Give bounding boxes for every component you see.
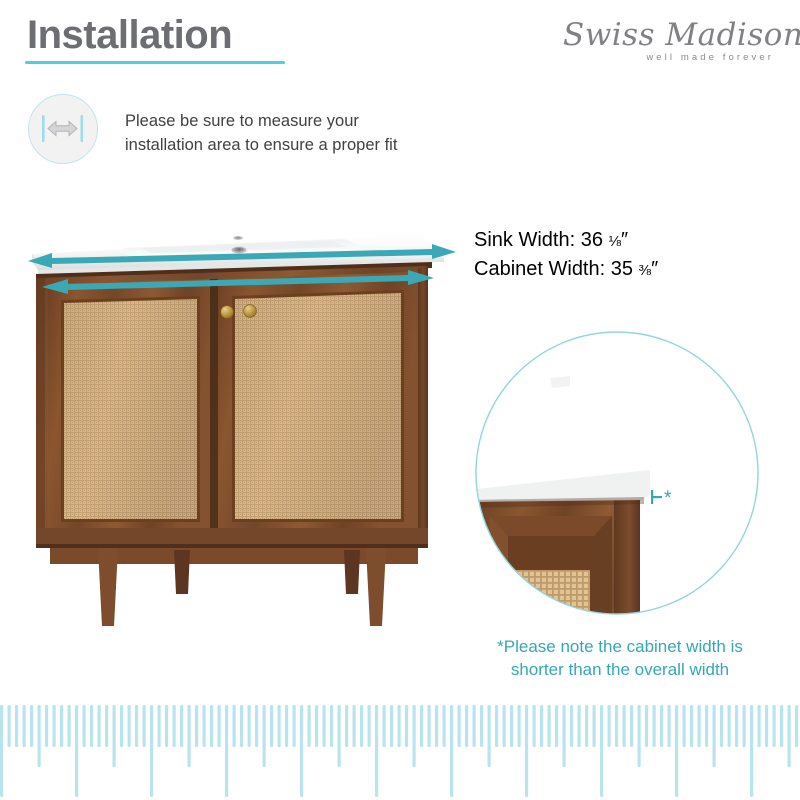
- ruler-tick: [180, 705, 183, 747]
- vanity-product-image: [14, 228, 446, 628]
- ruler-tick: [795, 705, 798, 747]
- ruler-tick: [38, 705, 41, 767]
- brand-logo: Swiss Madison® well made forever: [563, 20, 778, 63]
- ruler-tick: [98, 705, 101, 747]
- ruler-tick: [413, 705, 416, 767]
- ruler-tick: [638, 705, 641, 767]
- ruler-tick: [120, 705, 123, 747]
- cabinet-edge-detail-inset: *: [474, 330, 760, 616]
- ruler-tick: [593, 705, 596, 747]
- cabinet-width-note: *Please note the cabinet width is shorte…: [470, 636, 770, 682]
- leg-rear-left: [174, 550, 190, 594]
- ruler-tick: [218, 705, 221, 747]
- ruler-tick: [743, 705, 746, 747]
- cabinet-body: [36, 262, 432, 548]
- leg-front-right: [366, 548, 386, 626]
- ruler-tick: [383, 705, 386, 747]
- ruler-tick: [15, 705, 18, 747]
- ruler-tick: [165, 705, 168, 747]
- ruler-tick: [263, 705, 266, 767]
- ruler-tick: [720, 705, 723, 747]
- ruler-tick: [548, 705, 551, 747]
- ruler-ticks: [0, 700, 800, 800]
- ruler-tick: [143, 705, 146, 747]
- ruler-tick: [705, 705, 708, 747]
- ruler-tick: [323, 705, 326, 747]
- ruler-tick: [188, 705, 191, 767]
- svg-text:*: *: [664, 488, 672, 509]
- brand-name-text: Swiss Madison: [563, 17, 800, 53]
- leg-front-left: [98, 548, 118, 626]
- ruler-tick: [0, 705, 3, 797]
- ruler-tick: [450, 705, 453, 797]
- cabinet-width-label: Cabinet Width:: [474, 258, 605, 280]
- cabinet-width-value: 35: [611, 258, 633, 280]
- ruler-tick: [195, 705, 198, 747]
- ruler-tick: [668, 705, 671, 747]
- ruler-tick: [428, 705, 431, 747]
- ruler-tick: [788, 705, 791, 767]
- ruler-tick: [203, 705, 206, 747]
- ruler-tick: [600, 705, 603, 797]
- ruler-tick: [698, 705, 701, 747]
- ruler-tick: [683, 705, 686, 747]
- cabinet-width-note-line-1: *Please note the cabinet width is: [470, 636, 770, 659]
- measure-instruction-line-1: Please be sure to measure your: [125, 110, 455, 134]
- ruler-tick: [728, 705, 731, 747]
- ruler-tick: [675, 705, 678, 797]
- ruler-tick: [465, 705, 468, 747]
- ruler-tick: [503, 705, 506, 747]
- ruler-tick: [68, 705, 71, 747]
- ruler-tick: [615, 705, 618, 747]
- ruler-tick: [60, 705, 63, 747]
- ruler-tick: [360, 705, 363, 747]
- ruler-tick: [495, 705, 498, 747]
- sink-width-unit: ″: [621, 229, 628, 251]
- brand-tagline: well made forever: [563, 52, 778, 63]
- ruler-tick: [135, 705, 138, 747]
- ruler-tick: [533, 705, 536, 747]
- sink-width-value: 36: [581, 229, 603, 251]
- ruler-tick: [405, 705, 408, 747]
- ruler-tick: [555, 705, 558, 747]
- ruler-tick: [390, 705, 393, 747]
- cabinet-width-note-line-2: shorter than the overall width: [470, 659, 770, 682]
- ruler-tick: [765, 705, 768, 747]
- cabinet-width-unit: ″: [651, 258, 658, 280]
- page-title: Installation: [27, 14, 232, 56]
- ruler-tick: [368, 705, 371, 747]
- ruler-tick: [233, 705, 236, 747]
- ruler-tick: [443, 705, 446, 747]
- measure-icon-badge: [28, 94, 98, 164]
- ruler-tick: [23, 705, 26, 747]
- ruler-tick: [270, 705, 273, 747]
- ruler-tick: [105, 705, 108, 747]
- ruler-tick: [570, 705, 573, 747]
- vanity-illustration: [14, 228, 446, 628]
- ruler-tick: [773, 705, 776, 747]
- ruler-tick: [690, 705, 693, 747]
- ruler-tick: [240, 705, 243, 747]
- ruler-tick: [758, 705, 761, 747]
- ruler-tick: [473, 705, 476, 747]
- sink-width-callout: Sink Width: 36 ⅛″: [474, 226, 658, 255]
- cabinet-width-callout: Cabinet Width: 35 ⅜″: [474, 255, 658, 284]
- ruler-tick: [435, 705, 438, 747]
- ruler-tick: [510, 705, 513, 747]
- brand-name: Swiss Madison®: [563, 20, 778, 51]
- ruler-tick: [578, 705, 581, 747]
- ruler-tick: [30, 705, 33, 747]
- ruler-tick: [645, 705, 648, 747]
- cabinet-width-fraction: ⅜: [639, 262, 652, 279]
- ruler-tick: [293, 705, 296, 747]
- dimension-callouts: Sink Width: 36 ⅛″ Cabinet Width: 35 ⅜″: [474, 226, 658, 284]
- ruler-tick: [315, 705, 318, 747]
- ruler-tick: [75, 705, 78, 797]
- ruler-tick: [278, 705, 281, 747]
- sink-width-label: Sink Width:: [474, 229, 575, 251]
- ruler-tick: [713, 705, 716, 767]
- ruler-tick: [83, 705, 86, 747]
- ruler-tick: [90, 705, 93, 747]
- ruler-tick: [345, 705, 348, 747]
- ruler-tick: [128, 705, 131, 747]
- ruler-tick: [653, 705, 656, 747]
- ruler-tick: [285, 705, 288, 747]
- ruler-tick: [353, 705, 356, 747]
- ruler-tick: [398, 705, 401, 747]
- double-arrow-width-icon: [29, 95, 96, 162]
- measure-instruction-text: Please be sure to measure your installat…: [125, 110, 455, 158]
- ruler-tick: [158, 705, 161, 747]
- ruler-tick: [585, 705, 588, 747]
- edge-detail-illustration: *: [474, 330, 760, 616]
- ruler-tick: [780, 705, 783, 747]
- ruler-tick: [480, 705, 483, 747]
- ruler-tick: [660, 705, 663, 747]
- leg-rear-right: [344, 550, 360, 594]
- ruler-tick: [150, 705, 153, 797]
- ruler-tick: [255, 705, 258, 747]
- ruler-tick: [45, 705, 48, 747]
- sink-width-fraction: ⅛: [609, 233, 622, 250]
- ruler-tick: [488, 705, 491, 767]
- measuring-ruler: [0, 700, 800, 800]
- ruler-tick: [225, 705, 228, 797]
- ruler-tick: [420, 705, 423, 747]
- ruler-tick: [735, 705, 738, 747]
- cabinet-legs: [50, 548, 418, 626]
- ruler-tick: [623, 705, 626, 747]
- ruler-tick: [458, 705, 461, 747]
- ruler-tick: [750, 705, 753, 797]
- ruler-tick: [563, 705, 566, 767]
- ruler-tick: [248, 705, 251, 747]
- ruler-tick: [173, 705, 176, 747]
- ruler-tick: [8, 705, 11, 747]
- ruler-tick: [608, 705, 611, 747]
- ruler-tick: [300, 705, 303, 797]
- ruler-tick: [630, 705, 633, 747]
- cabinet-door-left: [48, 279, 210, 534]
- ruler-tick: [330, 705, 333, 747]
- ruler-tick: [53, 705, 56, 747]
- ruler-tick: [540, 705, 543, 747]
- ruler-tick: [308, 705, 311, 747]
- ruler-tick: [338, 705, 341, 767]
- measure-instruction-line-2: installation area to ensure a proper fit: [125, 134, 455, 158]
- ruler-tick: [518, 705, 521, 747]
- installation-page: Installation Swiss Madison® well made fo…: [0, 0, 800, 800]
- ruler-tick: [210, 705, 213, 747]
- ruler-tick: [525, 705, 528, 797]
- title-underline-rule: [25, 61, 285, 64]
- ruler-tick: [375, 705, 378, 797]
- ruler-tick: [113, 705, 116, 767]
